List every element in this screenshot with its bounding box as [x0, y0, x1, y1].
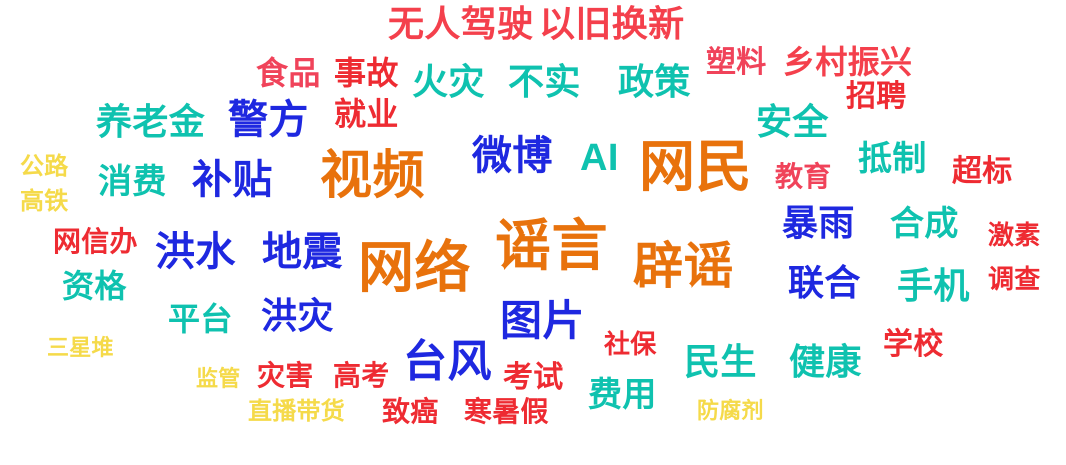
cloud-word: 网民	[639, 139, 752, 195]
cloud-word: 安全	[756, 104, 829, 140]
cloud-word: 塑料	[706, 48, 767, 78]
word-cloud-canvas: 无人驾驶以旧换新塑料乡村振兴食品事故火灾不实政策招聘养老金警方就业安全微博AI网…	[0, 0, 1066, 465]
cloud-word: 网络	[358, 240, 471, 296]
cloud-word: 致癌	[382, 398, 439, 426]
cloud-word: 政策	[618, 64, 691, 100]
cloud-word: 网信办	[53, 228, 138, 256]
cloud-word: 高铁	[20, 190, 68, 214]
cloud-word: 调查	[988, 266, 1041, 292]
cloud-word: 考试	[503, 363, 564, 393]
cloud-word: 超标	[952, 157, 1013, 187]
cloud-word: 乡村振兴	[783, 46, 912, 78]
cloud-word: 激素	[988, 222, 1041, 248]
cloud-word: 就业	[334, 98, 399, 130]
cloud-word: 辟谣	[633, 241, 734, 291]
cloud-word: 社保	[604, 331, 657, 357]
cloud-word: 图片	[500, 300, 585, 342]
cloud-word: 手机	[897, 268, 970, 304]
cloud-word: 事故	[334, 57, 399, 89]
cloud-word: 台风	[403, 340, 492, 384]
cloud-word: 消费	[98, 165, 167, 199]
cloud-word: 资格	[62, 270, 127, 302]
cloud-word: 直播带货	[248, 400, 345, 424]
cloud-word: 无人驾驶	[388, 6, 533, 42]
cloud-word: AI	[580, 139, 619, 177]
cloud-word: 谣言	[495, 218, 608, 274]
cloud-word: 监管	[196, 368, 240, 390]
cloud-word: 火灾	[412, 64, 485, 100]
cloud-word: 高考	[333, 362, 390, 390]
cloud-word: 养老金	[96, 104, 205, 140]
cloud-word: 食品	[256, 57, 321, 89]
cloud-word: 以旧换新	[539, 6, 684, 42]
cloud-word: 暴雨	[782, 205, 855, 241]
cloud-word: 视频	[320, 150, 425, 202]
cloud-word: 不实	[508, 64, 581, 100]
cloud-word: 警方	[228, 100, 309, 140]
cloud-word: 补贴	[192, 160, 273, 200]
cloud-word: 招聘	[846, 82, 907, 112]
cloud-word: 联合	[788, 265, 861, 301]
cloud-word: 抵制	[858, 142, 927, 176]
cloud-word: 洪水	[155, 232, 236, 272]
cloud-word: 寒暑假	[464, 398, 549, 426]
cloud-word: 公路	[20, 155, 68, 179]
cloud-word: 洪灾	[261, 298, 334, 334]
cloud-word: 学校	[883, 330, 944, 360]
cloud-word: 灾害	[257, 362, 314, 390]
cloud-word: 教育	[775, 163, 832, 191]
cloud-word: 平台	[168, 303, 233, 335]
cloud-word: 防腐剂	[697, 400, 764, 422]
cloud-word: 三星堆	[47, 337, 114, 359]
cloud-word: 民生	[684, 344, 757, 380]
cloud-word: 健康	[789, 344, 862, 380]
cloud-word: 微博	[472, 136, 553, 176]
cloud-word: 合成	[890, 207, 959, 241]
cloud-word: 费用	[588, 378, 657, 412]
cloud-word: 地震	[262, 232, 343, 272]
